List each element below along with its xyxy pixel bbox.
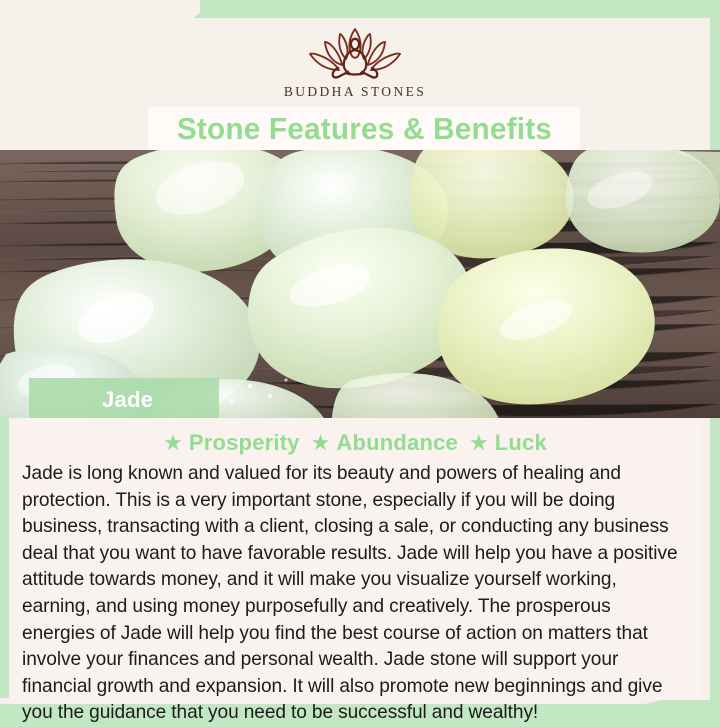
benefit-item-luck: ★ Luck: [469, 430, 547, 456]
brand-name: BUDDHA STONES: [284, 84, 426, 100]
page-title-banner: Stone Features & Benefits: [148, 107, 580, 150]
photo-caption-jade: Jade: [29, 378, 219, 421]
benefit-label-prosperity: Prosperity: [189, 430, 300, 456]
content-panel: ★ Prosperity ★ Abundance ★ Luck Jade is …: [9, 418, 701, 700]
lotus-meditation-icon: [296, 24, 414, 82]
benefit-item-prosperity: ★ Prosperity: [163, 430, 300, 456]
cream-background-top: [0, 0, 200, 20]
stone-description: Jade is long known and valued for its be…: [22, 461, 688, 727]
page-title: Stone Features & Benefits: [176, 111, 551, 147]
benefit-label-abundance: Abundance: [336, 430, 458, 456]
brand-header: BUDDHA STONES: [0, 18, 710, 106]
star-icon: ★: [469, 432, 489, 454]
photo-caption-label: Jade: [29, 387, 153, 413]
benefits-row: ★ Prosperity ★ Abundance ★ Luck: [22, 430, 688, 456]
star-icon: ★: [311, 432, 331, 454]
benefit-label-luck: Luck: [495, 430, 547, 456]
benefit-item-abundance: ★ Abundance: [311, 430, 458, 456]
star-icon: ★: [163, 432, 183, 454]
green-accent-top-right: [192, 0, 720, 19]
infographic-page: BUDDHA STONES Stone Features & Benefits: [0, 0, 720, 720]
